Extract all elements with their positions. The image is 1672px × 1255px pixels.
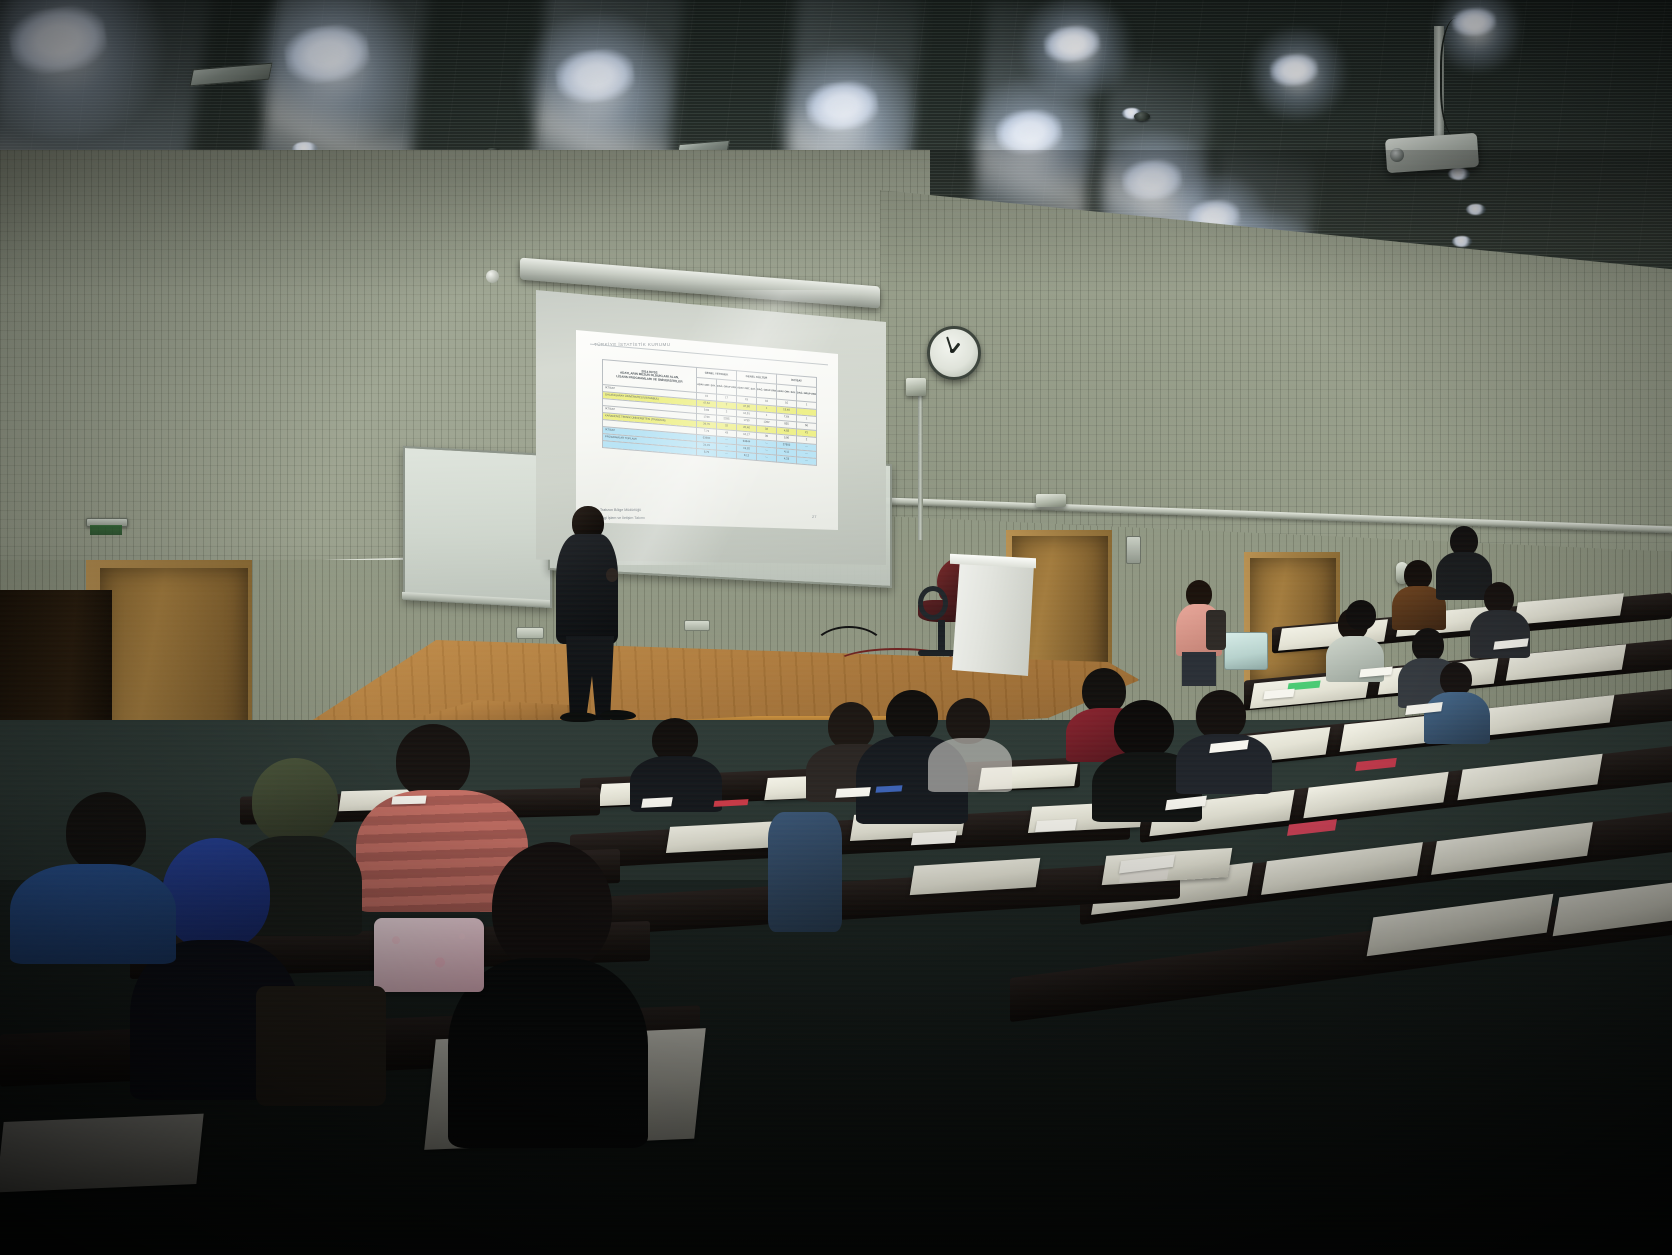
table-cell: 6,75 [697, 448, 717, 457]
student-head [1346, 600, 1376, 630]
sub-header: DAĞ. GRUP ORN. [717, 379, 737, 395]
pink-floral-bag [374, 918, 484, 992]
table-cell: 9,12 [737, 452, 757, 461]
office-chair-post [938, 620, 945, 652]
recessed-square-light [1042, 23, 1101, 65]
whiteboard [403, 446, 552, 608]
student-head-hijab-blue [162, 838, 270, 950]
presentation-slide: TÜRKİYE İSTATİSTİK KURUMU TÜİK 2014 KPSS… [576, 330, 838, 530]
student-body-blue [10, 864, 176, 964]
student-head [828, 702, 874, 750]
student-head [1440, 662, 1472, 696]
sub-header: ADAY ORT. SAY. [777, 385, 797, 401]
recessed-square-light [1120, 157, 1183, 202]
exit-sign-green [90, 525, 122, 535]
student-body [1470, 610, 1530, 658]
walking-student-bag [1206, 610, 1226, 650]
table-cell: — [797, 457, 817, 466]
office-chair-arm [918, 586, 948, 620]
student-head [66, 792, 146, 872]
walking-student-legs [1182, 652, 1216, 686]
recessed-square-light [282, 21, 372, 87]
presenter-shoe-right [600, 710, 636, 720]
projector-lens [1390, 148, 1404, 162]
light-switch-plate[interactable] [1126, 536, 1141, 564]
student-head [396, 724, 470, 798]
student-head-hijab-green [252, 758, 338, 844]
sub-header: DAĞ. GRUP ORN. [797, 386, 817, 402]
paper-sheet [835, 787, 871, 798]
screen-mount-knob [486, 270, 499, 283]
slide-footer-line-2: Bilgi İşlem ve İletişim Takımı [600, 516, 645, 520]
table-cell: 4,23 [777, 455, 797, 464]
student-head [1114, 700, 1174, 758]
presenter-shoe-left [560, 712, 598, 722]
recessed-square-light [994, 107, 1064, 157]
wall-socket [516, 627, 544, 639]
lecture-hall-photo: TÜRKİYE İSTATİSTİK KURUMU TÜİK 2014 KPSS… [0, 0, 1672, 1255]
recessed-square-light [804, 78, 881, 133]
clock-conduit [918, 380, 923, 540]
lectern-podium [952, 558, 1034, 676]
paper-sheet [641, 797, 673, 808]
paper-sheet [391, 796, 426, 805]
slide-footer-line-1: Trabzon Bölge Müdürlüğü [600, 508, 641, 512]
wall-socket [684, 620, 710, 631]
wall-speaker [1036, 494, 1066, 507]
recessed-downlight [1466, 204, 1486, 215]
storage-crate [1224, 632, 1268, 670]
student-body [928, 738, 1012, 792]
paper-sheet [911, 831, 957, 845]
projector-cable [1440, 18, 1480, 138]
recessed-square-light [553, 46, 636, 106]
student-bag-dark [256, 986, 386, 1106]
student-head [1196, 690, 1246, 740]
student-head [1412, 628, 1444, 662]
presenter-torso [556, 534, 618, 644]
recessed-downlight [1452, 236, 1472, 247]
slide-table: 2014 KPSS ADAYLARIN MEZUN OLDUKLARI ALAN… [602, 359, 817, 466]
presenter-hand [606, 568, 618, 582]
table-cell: — [757, 453, 777, 462]
ceiling-speaker [1134, 112, 1150, 121]
clock-center-pin [950, 349, 954, 353]
paper-sheet [1035, 819, 1077, 832]
student-head [492, 842, 612, 972]
slide-page-number: 27 [812, 514, 816, 519]
student-head [886, 690, 938, 742]
sub-header: ADAY ORT. SAY. [697, 378, 717, 394]
recessed-square-light [6, 2, 110, 79]
desk-top [0, 1114, 204, 1193]
wall-box-near-clock [906, 378, 926, 396]
sub-header: ADAY ORT. SAY. [737, 381, 757, 397]
recessed-downlight [1448, 168, 1470, 180]
student-body [1424, 692, 1490, 744]
wall-clock [927, 326, 981, 380]
student-jeans [768, 812, 842, 932]
table-cell: — [717, 450, 737, 459]
sub-header: DAĞ. GRUP ORN. [757, 383, 777, 399]
recessed-square-light [1269, 52, 1320, 88]
